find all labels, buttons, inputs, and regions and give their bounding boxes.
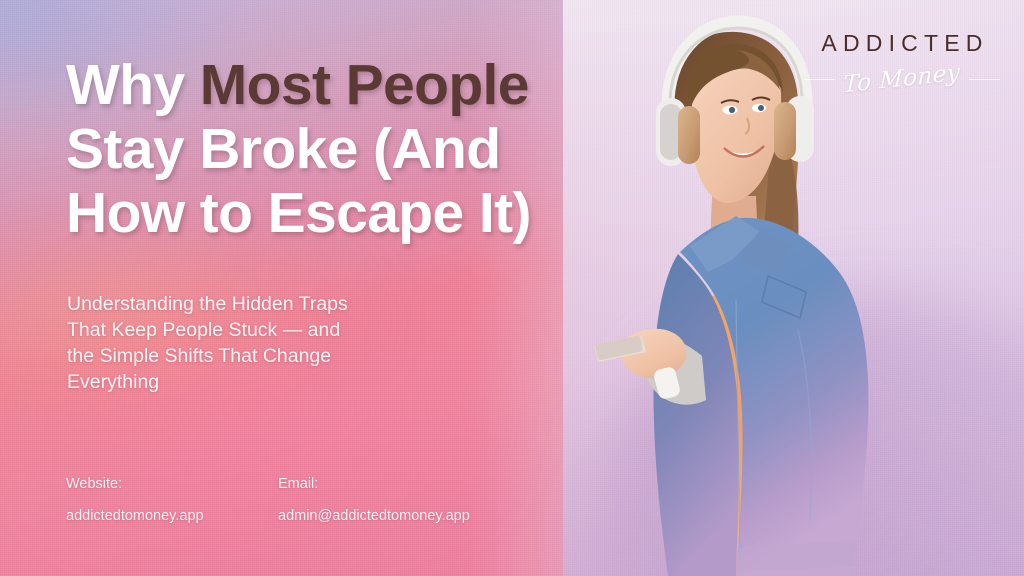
text-column: Why Most PeopleStay Broke (AndHow to Esc… <box>66 0 626 576</box>
page-subtitle: Understanding the Hidden Traps That Keep… <box>67 292 467 396</box>
website-label: Website: <box>66 477 212 492</box>
headline-line1-accent: Most People <box>200 53 529 117</box>
brand-tagline-row: To Money <box>804 62 1000 96</box>
brand-logo: ADDICTED To Money <box>804 32 1000 96</box>
headline-line1-white: Why <box>66 53 200 117</box>
email-value[interactable]: admin@addictedtomoney.app <box>278 509 470 524</box>
website-value[interactable]: addictedtomoney.app <box>66 509 212 524</box>
divider-line-left <box>804 79 835 80</box>
brand-script-tagline: To Money <box>843 60 961 99</box>
page-title: Why Most PeopleStay Broke (AndHow to Esc… <box>66 54 626 245</box>
brand-wordmark: ADDICTED <box>804 32 1000 55</box>
email-label: Email: <box>278 477 470 492</box>
headline-line2: Stay Broke (And <box>66 117 500 181</box>
iris-right <box>758 105 764 111</box>
divider-line-right <box>969 79 1000 80</box>
iris-left <box>729 107 735 113</box>
slide-canvas: ADDICTED To Money Why Most PeopleStay Br… <box>0 0 1024 576</box>
headline-line3: How to Escape It) <box>66 181 531 245</box>
headphone-cup-right <box>774 96 814 162</box>
contact-website: Website: addictedtomoney.app <box>66 477 212 523</box>
contact-block: Website: addictedtomoney.app Email: admi… <box>66 477 470 523</box>
headphone-cup-left <box>656 98 700 166</box>
contact-email: Email: admin@addictedtomoney.app <box>278 477 470 523</box>
